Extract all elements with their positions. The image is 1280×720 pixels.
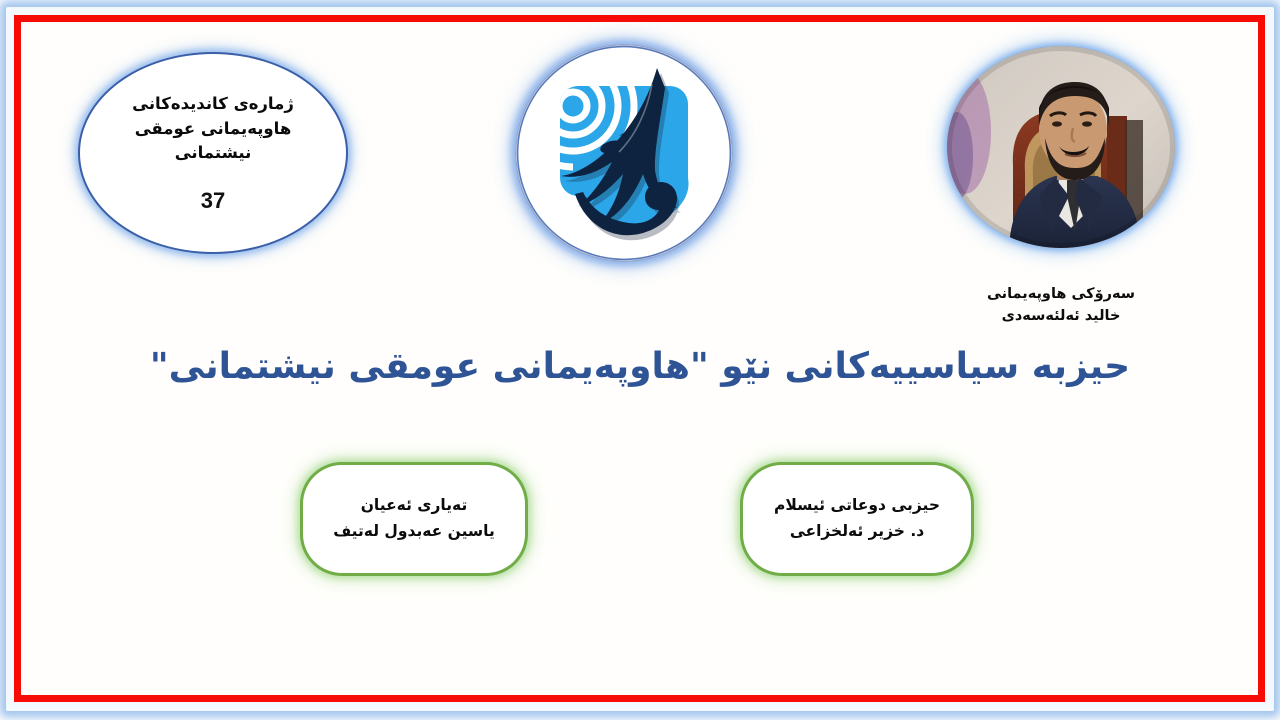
party-card-right-party: حیزبی دوعاتی ئیسلام: [774, 493, 940, 519]
candidate-count-label-line3: نیشتمانی: [108, 141, 318, 166]
slide-main-title: حیزبە سیاسییەکانی نێو "هاوپەیمانی عومقی …: [60, 344, 1220, 389]
candidate-count-label: ژمارەی کاندیدەکانی هاوپەیمانی عومقی نیشت…: [108, 92, 318, 166]
party-card-left-party: تەیاری ئەعیان: [333, 493, 495, 519]
candidate-count-value: 37: [201, 188, 225, 214]
party-card-left-text: تەیاری ئەعیان یاسین عەبدول لەتیف: [333, 493, 495, 544]
umq-broadcast-logo-icon: [515, 44, 733, 262]
candidate-count-ellipse: ژمارەی کاندیدەکانی هاوپەیمانی عومقی نیشت…: [78, 52, 348, 254]
party-card-right-leader: د. خزیر ئەلخزاعی: [774, 519, 940, 545]
party-card-left[interactable]: تەیاری ئەعیان یاسین عەبدول لەتیف: [300, 462, 528, 576]
candidate-count-label-line2: هاوپەیمانی عومقی: [108, 117, 318, 142]
leader-caption: سەرۆکی هاوپەیمانی خالید ئەلئەسەدی: [930, 283, 1192, 328]
party-card-left-leader: یاسین عەبدول لەتیف: [333, 519, 495, 545]
leader-portrait-photo: [947, 46, 1175, 248]
party-card-right-text: حیزبی دوعاتی ئیسلام د. خزیر ئەلخزاعی: [774, 493, 940, 544]
leader-caption-role: سەرۆکی هاوپەیمانی: [930, 283, 1192, 305]
slide-canvas: ژمارەی کاندیدەکانی هاوپەیمانی عومقی نیشت…: [0, 0, 1280, 720]
candidate-count-label-line1: ژمارەی کاندیدەکانی: [108, 92, 318, 117]
leader-caption-name: خالید ئەلئەسەدی: [930, 305, 1192, 327]
party-card-right[interactable]: حیزبی دوعاتی ئیسلام د. خزیر ئەلخزاعی: [740, 462, 974, 576]
